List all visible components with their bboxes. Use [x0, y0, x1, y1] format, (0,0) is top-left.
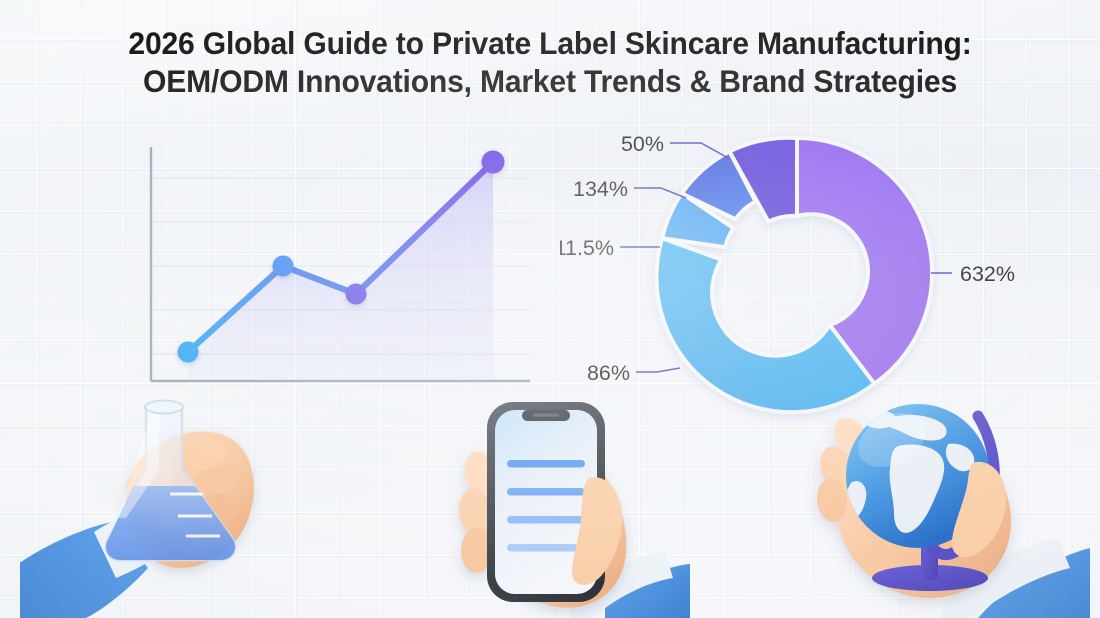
content-bar [507, 460, 585, 468]
data-point [273, 256, 294, 277]
content-bar [507, 544, 585, 552]
phone-speaker [533, 414, 559, 417]
data-point [346, 284, 367, 305]
page-title: 2026 Global Guide to Private Label Skinc… [25, 24, 1076, 100]
hand-holding-globe-illustration [790, 372, 1090, 618]
leader-line-86 [636, 368, 680, 372]
hand-holding-flask-illustration [20, 372, 340, 618]
donut-label-11-5: 11.5% [560, 236, 614, 260]
chart-area-fill [188, 162, 493, 379]
data-point [178, 342, 199, 363]
flask-rim [145, 401, 183, 414]
title-line-2: OEM/ODM Innovations, Market Trends & Bra… [25, 62, 1076, 100]
content-bar [507, 516, 585, 524]
data-point [482, 151, 505, 174]
poster-canvas: 2026 Global Guide to Private Label Skinc… [0, 0, 1100, 618]
donut-label-632: 632% [960, 262, 1015, 286]
donut-label-50: 50% [621, 132, 664, 156]
donut-label-134: 134% [573, 177, 628, 201]
title-line-1: 2026 Global Guide to Private Label Skinc… [128, 25, 971, 61]
content-bar [507, 488, 585, 496]
line-chart [120, 125, 560, 410]
hand-holding-phone-illustration [425, 382, 690, 618]
